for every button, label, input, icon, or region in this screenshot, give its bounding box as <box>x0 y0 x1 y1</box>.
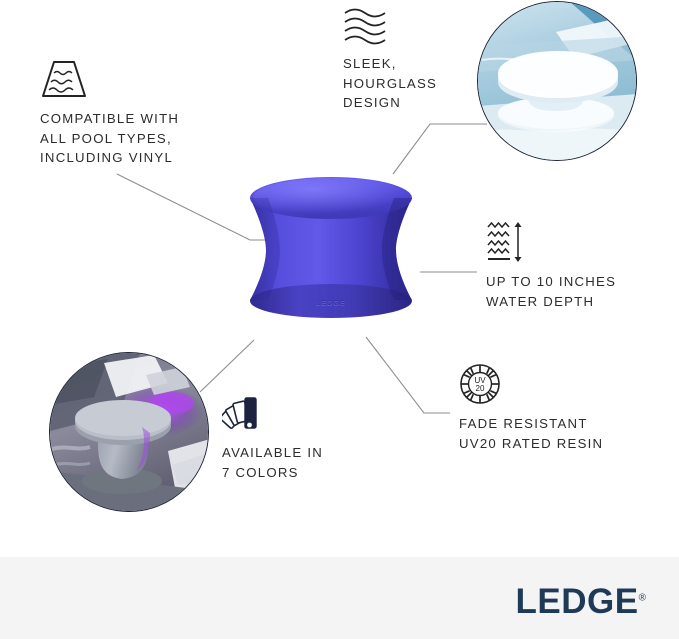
water-waves-icon <box>343 5 389 45</box>
feature-pool-types: COMPATIBLE WITH ALL POOL TYPES, INCLUDIN… <box>40 58 179 168</box>
feature-available-colors-label: AVAILABLE IN 7 COLORS <box>222 443 323 482</box>
feature-hourglass-label: SLEEK, HOURGLASS DESIGN <box>343 54 437 113</box>
uv-rating-sun-icon: UV 20 <box>459 363 501 405</box>
pool-cross-section-icon <box>40 58 88 100</box>
feature-hourglass-design: SLEEK, HOURGLASS DESIGN <box>343 5 437 113</box>
feature-uv-resistance: UV 20 FADE RESISTANT UV20 RATED RESIN <box>459 363 603 453</box>
water-depth-arrow-icon <box>486 221 526 263</box>
product-image: LEDGE <box>236 172 426 327</box>
white-stool-in-pool-photo <box>477 1 637 161</box>
connector-uv <box>366 337 450 413</box>
stool-base <box>250 284 412 318</box>
product-stool-svg <box>236 172 426 327</box>
feature-water-depth-label: UP TO 10 INCHES WATER DEPTH <box>486 272 616 311</box>
connector-colors <box>200 340 254 392</box>
color-swatch-fan-icon <box>222 394 260 434</box>
ledge-logo: LEDGE® <box>516 584 646 619</box>
feature-uv-resistance-label: FADE RESISTANT UV20 RATED RESIN <box>459 414 603 453</box>
pool-photo-art <box>478 2 637 161</box>
uv-badge-line2: 20 <box>476 384 485 393</box>
stool-top-highlight <box>253 178 409 216</box>
footer-bar: LEDGE® <box>0 557 679 639</box>
connector-hourglass <box>393 124 487 174</box>
registered-trademark-icon: ® <box>639 592 646 603</box>
night-photo-art <box>50 353 209 512</box>
infographic-page: LEDGE <box>0 0 679 639</box>
grey-stool-night-led-photo <box>49 352 209 512</box>
feature-available-colors: AVAILABLE IN 7 COLORS <box>222 394 323 482</box>
feature-pool-types-label: COMPATIBLE WITH ALL POOL TYPES, INCLUDIN… <box>40 109 179 168</box>
ledge-logo-text: LEDGE <box>516 582 639 621</box>
feature-water-depth: UP TO 10 INCHES WATER DEPTH <box>486 221 616 311</box>
